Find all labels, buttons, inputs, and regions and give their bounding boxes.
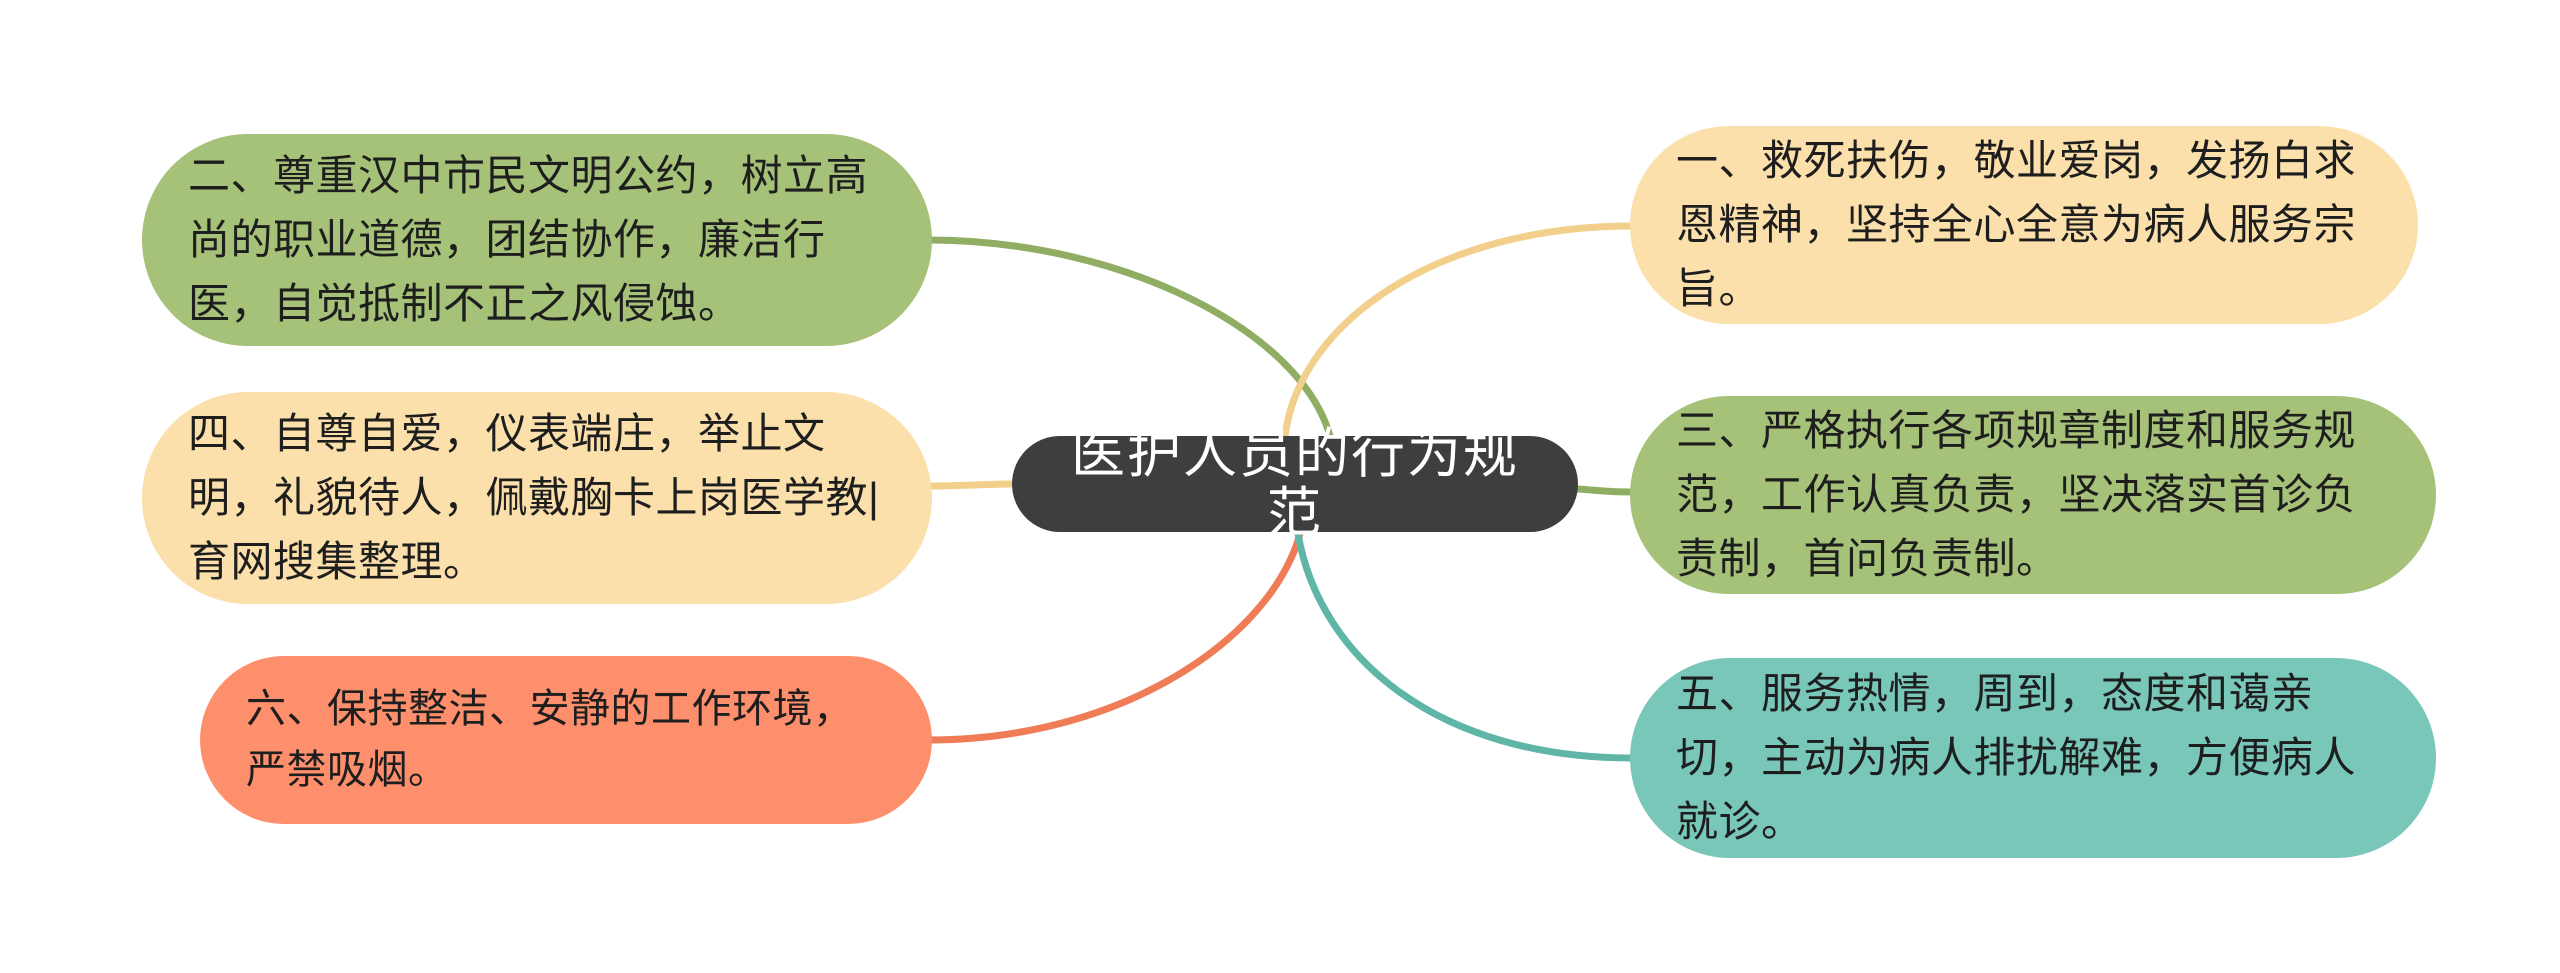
central-topic-node[interactable]: 医护人员的行为规范 (1012, 436, 1578, 532)
branch-node-2-label: 二、尊重汉中市民文明公约，树立高尚的职业道德，团结协作，廉洁行医，自觉抵制不正之… (188, 144, 886, 335)
connector-node-4 (928, 484, 1012, 486)
branch-node-5-label: 五、服务热情，周到，态度和蔼亲切，主动为病人排扰解难，方便病人就诊。 (1676, 662, 2390, 853)
connector-node-3 (1578, 489, 1632, 492)
branch-node-3[interactable]: 三、严格执行各项规章制度和服务规范，工作认真负责，坚决落实首诊负责制，首问负责制… (1630, 396, 2436, 594)
connector-node-5 (1298, 534, 1632, 758)
central-topic-label: 医护人员的行为规范 (1066, 425, 1524, 544)
connector-node-1 (1285, 226, 1632, 436)
branch-node-2[interactable]: 二、尊重汉中市民文明公约，树立高尚的职业道德，团结协作，廉洁行医，自觉抵制不正之… (142, 134, 932, 346)
branch-node-1[interactable]: 一、救死扶伤，敬业爱岗，发扬白求恩精神，坚持全心全意为病人服务宗旨。 (1630, 126, 2418, 324)
branch-node-4[interactable]: 四、自尊自爱，仪表端庄，举止文明，礼貌待人，佩戴胸卡上岗医学教|育网搜集整理。 (142, 392, 932, 604)
connector-node-2 (928, 240, 1330, 436)
mindmap-canvas: 医护人员的行为规范 二、尊重汉中市民文明公约，树立高尚的职业道德，团结协作，廉洁… (0, 0, 2560, 973)
branch-node-5[interactable]: 五、服务热情，周到，态度和蔼亲切，主动为病人排扰解难，方便病人就诊。 (1630, 658, 2436, 858)
branch-node-3-label: 三、严格执行各项规章制度和服务规范，工作认真负责，坚决落实首诊负责制，首问负责制… (1676, 399, 2390, 590)
branch-node-6[interactable]: 六、保持整洁、安静的工作环境，严禁吸烟。 (200, 656, 932, 824)
connector-node-6 (928, 534, 1300, 740)
branch-node-6-label: 六、保持整洁、安静的工作环境，严禁吸烟。 (246, 679, 886, 801)
branch-node-1-label: 一、救死扶伤，敬业爱岗，发扬白求恩精神，坚持全心全意为病人服务宗旨。 (1676, 129, 2372, 320)
branch-node-4-label: 四、自尊自爱，仪表端庄，举止文明，礼貌待人，佩戴胸卡上岗医学教|育网搜集整理。 (188, 402, 886, 593)
